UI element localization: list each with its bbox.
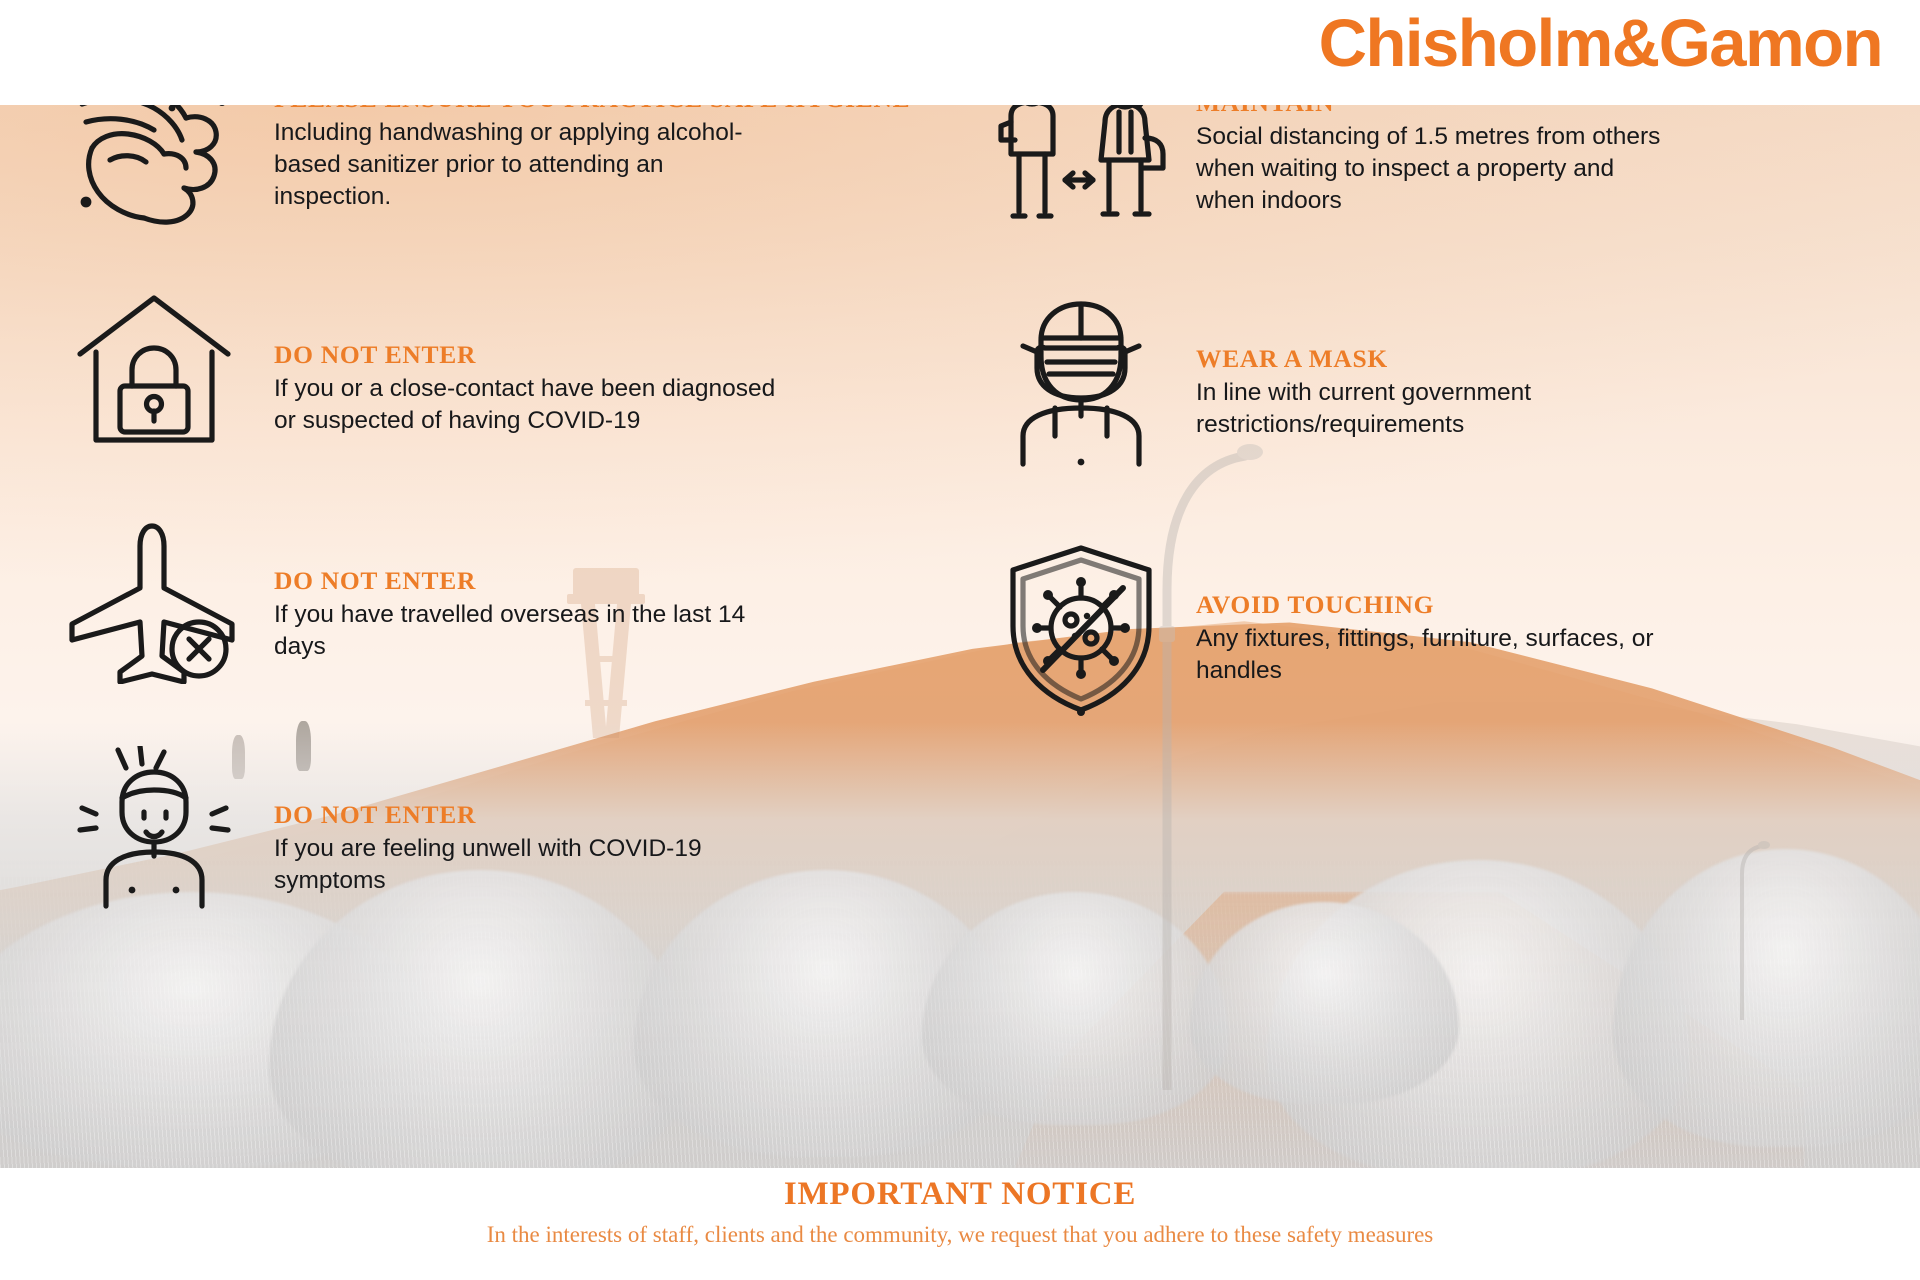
safety-item-body: Social distancing of 1.5 metres from oth… <box>1196 121 1666 217</box>
safety-item-heading: AVOID TOUCHING <box>1196 588 1666 621</box>
safety-item-do-not-enter-unwell: DO NOT ENTER If you are feeling unwell w… <box>60 746 932 910</box>
locked-house-icon <box>60 290 248 454</box>
header-bar: Chisholm&Gamon <box>0 0 1920 105</box>
safety-item-body: If you have travelled overseas in the la… <box>274 599 779 663</box>
no-travel-plane-icon <box>60 516 248 684</box>
safety-item-text: DO NOT ENTER If you are feeling unwell w… <box>274 746 779 897</box>
footer-subtitle: In the interests of staff, clients and t… <box>487 1219 1434 1250</box>
right-column: MAINTAIN Social distancing of 1.5 metres… <box>970 52 1880 1280</box>
safety-item-avoid-touching: AVOID TOUCHING Any fixtures, fittings, f… <box>992 540 1880 716</box>
safety-item-heading: WEAR A MASK <box>1196 342 1666 375</box>
safety-item-text: DO NOT ENTER If you have travelled overs… <box>274 516 779 663</box>
footer-bar: IMPORTANT NOTICE In the interests of sta… <box>0 1168 1920 1280</box>
safety-item-body: If you or a close-contact have been diag… <box>274 373 779 437</box>
footer-title: IMPORTANT NOTICE <box>784 1174 1136 1215</box>
safety-item-body: Any fixtures, fittings, furniture, surfa… <box>1196 623 1666 687</box>
safety-item-do-not-enter-travel: DO NOT ENTER If you have travelled overs… <box>60 516 932 684</box>
left-column: PLEASE ENSURE YOU PRACTICE SAFE HYGIENE … <box>60 52 970 1280</box>
covid-safety-poster: Chisholm&Gamon <box>0 0 1920 1280</box>
safety-item-body: If you are feeling unwell with COVID-19 … <box>274 833 779 897</box>
safety-item-text: DO NOT ENTER If you or a close-contact h… <box>274 290 779 437</box>
safety-item-body: In line with current government restrict… <box>1196 377 1666 441</box>
safety-item-wear-a-mask: WEAR A MASK In line with current governm… <box>992 294 1880 470</box>
safety-item-text: WEAR A MASK In line with current governm… <box>1196 294 1666 441</box>
safety-item-do-not-enter-diagnosed: DO NOT ENTER If you or a close-contact h… <box>60 290 932 454</box>
face-mask-icon <box>992 294 1170 470</box>
company-logo: Chisholm&Gamon <box>1319 0 1882 92</box>
safety-item-heading: DO NOT ENTER <box>274 798 779 831</box>
safety-item-heading: DO NOT ENTER <box>274 564 779 597</box>
safety-item-heading: DO NOT ENTER <box>274 338 779 371</box>
shield-virus-blocked-icon <box>992 540 1170 716</box>
content-grid: PLEASE ENSURE YOU PRACTICE SAFE HYGIENE … <box>0 0 1920 1280</box>
safety-item-text: AVOID TOUCHING Any fixtures, fittings, f… <box>1196 540 1666 687</box>
safety-item-body: Including handwashing or applying alcoho… <box>274 117 779 213</box>
sick-person-icon <box>60 746 248 910</box>
